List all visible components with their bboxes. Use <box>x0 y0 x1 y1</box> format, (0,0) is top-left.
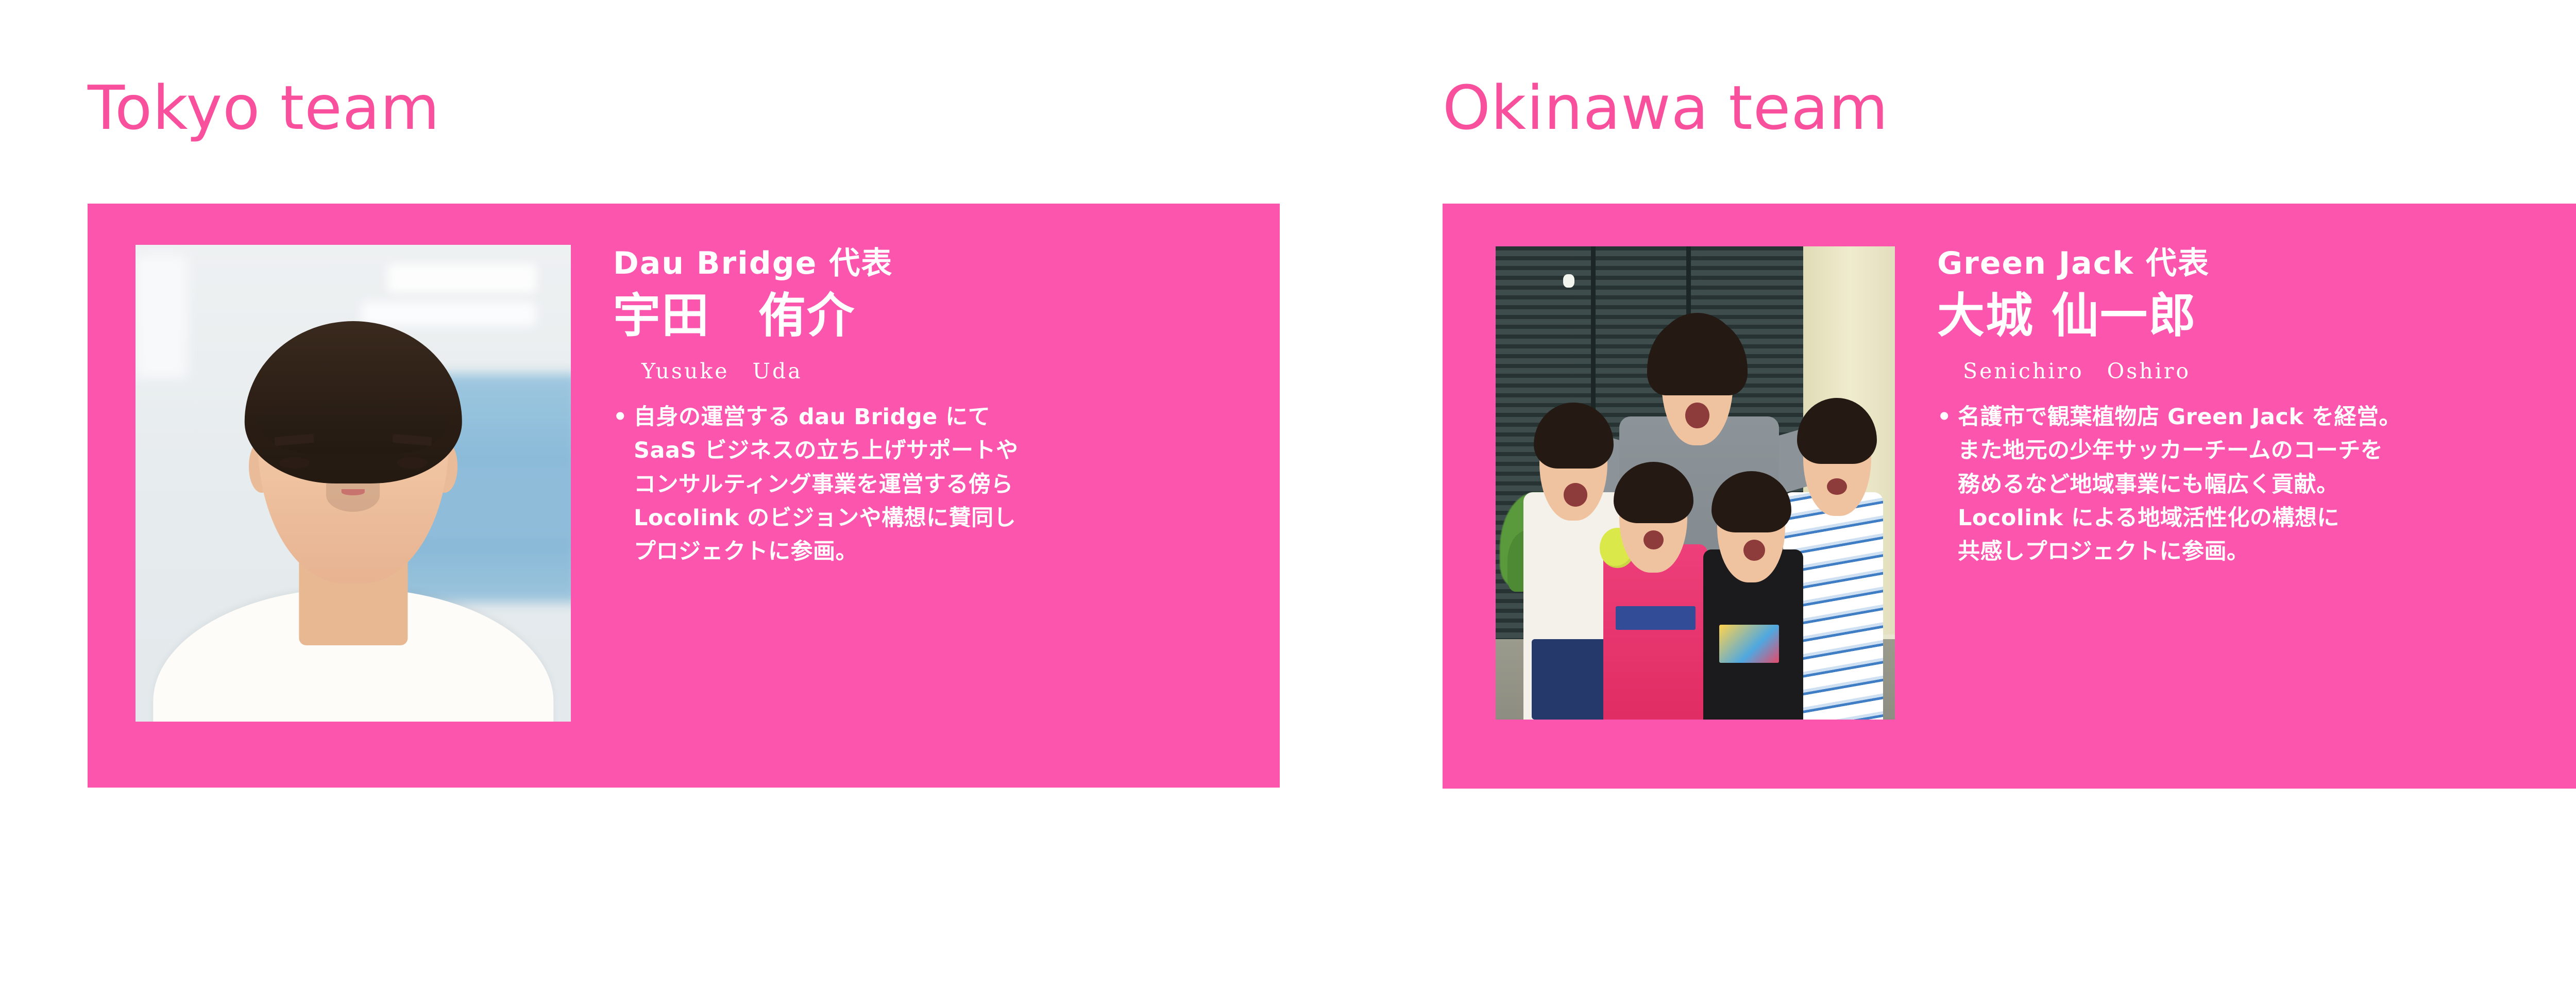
bio-line: • SaaS ビジネスの立ち上げサポートや <box>613 434 1018 467</box>
profile-role-tokyo: Dau Bridge 代表 <box>613 248 893 279</box>
tshirt-graphic <box>1719 625 1779 662</box>
profile-photo-okinawa <box>1496 246 1895 720</box>
bio-line-text: SaaS ビジネスの立ち上げサポートや <box>634 434 1018 467</box>
bio-line-text: 自身の運営する dau Bridge にて <box>634 400 990 434</box>
mouth <box>342 489 365 495</box>
boy-1-pants <box>1532 639 1616 720</box>
profile-card-tokyo: Dau Bridge 代表 宇田 侑介 Yusuke Uda • 自身の運営する… <box>88 204 1280 788</box>
profile-bio-okinawa: • 名護市で観葉植物店 Green Jack を経営。 • また地元の少年サッカ… <box>1937 400 2401 569</box>
bio-line: • 自身の運営する dau Bridge にて <box>613 400 1018 434</box>
bio-line-text: 共感しプロジェクトに参画。 <box>1958 535 2249 569</box>
boy-2-mouth <box>1643 530 1664 549</box>
profile-name-romaji-tokyo: Yusuke Uda <box>641 361 803 382</box>
ceiling-light-glow <box>135 255 188 379</box>
bullet-icon: • <box>1937 400 1958 434</box>
page-root: Tokyo team <box>0 0 2576 1002</box>
bio-line-text: 務めるなど地域事業にも幅広く貢献。 <box>1958 468 2339 502</box>
team-heading-tokyo: Tokyo team <box>88 77 440 138</box>
boy-1-mouth <box>1564 483 1588 507</box>
ceiling-light-strip <box>362 302 536 326</box>
eye-left <box>279 457 310 469</box>
bio-line: • 共感しプロジェクトに参画。 <box>1937 535 2401 569</box>
bio-line-text: 名護市で観葉植物店 Green Jack を経営。 <box>1958 400 2401 434</box>
door-highlight <box>1563 274 1574 288</box>
profile-bio-tokyo: • 自身の運営する dau Bridge にて • SaaS ビジネスの立ち上げ… <box>613 400 1018 569</box>
profile-role-okinawa: Green Jack 代表 <box>1937 248 2210 279</box>
bio-line: • 務めるなど地域事業にも幅広く貢献。 <box>1937 468 2401 502</box>
bio-line: • 名護市で観葉植物店 Green Jack を経営。 <box>1937 400 2401 434</box>
profile-name-ja-okinawa: 大城 仙一郎 <box>1937 292 2197 340</box>
bullet-icon: • <box>613 400 634 434</box>
bio-line: • コンサルティング事業を運営する傍ら <box>613 468 1018 502</box>
bio-line-text: また地元の少年サッカーチームのコーチを <box>1958 434 2383 467</box>
eye-right <box>397 457 427 469</box>
bio-line: • Locolink による地域活性化の構想に <box>1937 502 2401 535</box>
profile-name-romaji-okinawa: Senichiro Oshiro <box>1963 361 2191 382</box>
bio-line-text: Locolink のビジョンや構想に賛同し <box>634 502 1016 535</box>
jersey-sponsor-text <box>1616 606 1696 630</box>
bio-line: • また地元の少年サッカーチームのコーチを <box>1937 434 2401 467</box>
bio-line-text: プロジェクトに参画。 <box>634 535 858 569</box>
man-mouth <box>1685 403 1709 428</box>
bio-line-text: コンサルティング事業を運営する傍ら <box>634 468 1013 502</box>
profile-name-ja-tokyo: 宇田 侑介 <box>613 292 855 340</box>
ceiling-light-strip <box>388 264 536 293</box>
profile-photo-tokyo <box>135 245 571 722</box>
profile-card-okinawa: Green Jack 代表 大城 仙一郎 Senichiro Oshiro • … <box>1443 204 2576 789</box>
bio-line: • Locolink のビジョンや構想に賛同し <box>613 502 1018 535</box>
team-heading-okinawa: Okinawa team <box>1443 77 1889 138</box>
bio-line-text: Locolink による地域活性化の構想に <box>1958 502 2340 535</box>
boy-4-mouth <box>1827 478 1847 495</box>
bio-line: • プロジェクトに参画。 <box>613 535 1018 569</box>
